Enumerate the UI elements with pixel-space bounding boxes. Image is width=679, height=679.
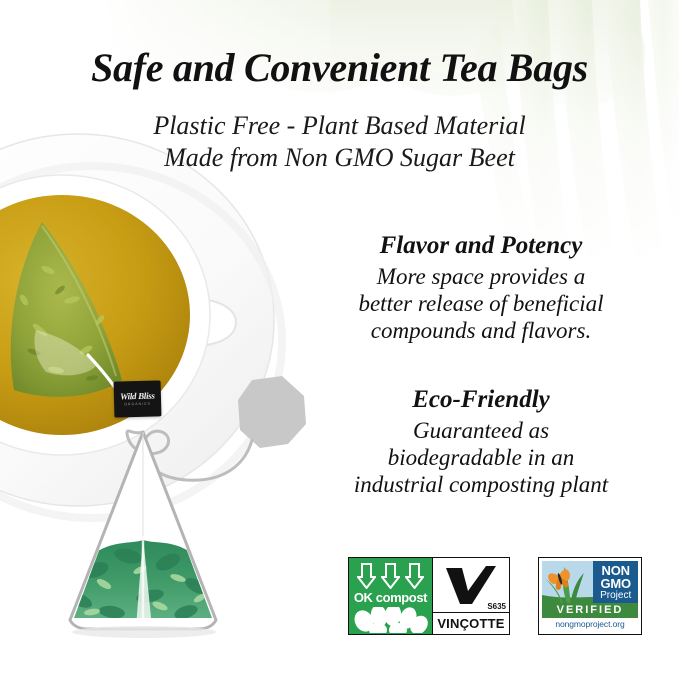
vincotte-check-area: S635 — [432, 558, 509, 612]
feature-flavor-title: Flavor and Potency — [286, 232, 676, 260]
non-gmo-sky-scene — [542, 561, 593, 603]
ok-compost-panel: OK compost — [349, 558, 432, 634]
feature-flavor-line-2: better release of beneficial — [286, 290, 676, 317]
non-gmo-url: nongmoproject.org — [542, 618, 638, 631]
feature-eco-line-3: industrial composting plant — [286, 471, 676, 498]
ok-compost-label: OK compost — [354, 590, 427, 605]
teabag-string — [127, 431, 252, 480]
feature-flavor-line-3: compounds and flavors. — [286, 317, 676, 344]
compost-flower-icon — [352, 607, 428, 633]
feature-flavor-and-potency: Flavor and Potency More space provides a… — [286, 232, 676, 344]
teabag-in-cup — [11, 222, 122, 397]
feature-eco-line-2: biodegradable in an — [286, 444, 676, 471]
brand-tag-subtitle: ORGANICS — [124, 402, 151, 406]
vincotte-name: VINÇOTTE — [432, 612, 509, 634]
checkmark-icon — [444, 565, 498, 605]
non-gmo-wordmark: NON GMO Project — [593, 561, 638, 603]
pyramid-outline — [70, 432, 216, 629]
tagline-line-2: Made from Non GMO Sugar Beet — [0, 142, 679, 174]
non-gmo-line-1: NON — [602, 564, 630, 577]
down-arrow-icon — [405, 563, 424, 589]
feature-eco-body: Guaranteed as biodegradable in an indust… — [286, 417, 676, 498]
down-arrows-group — [357, 563, 424, 589]
non-gmo-top: NON GMO Project — [542, 561, 638, 603]
feature-flavor-body: More space provides a better release of … — [286, 263, 676, 344]
feature-eco-friendly: Eco-Friendly Guaranteed as biodegradable… — [286, 386, 676, 498]
tea-liquid — [0, 195, 190, 435]
non-gmo-project-verified-badge: NON GMO Project VERIFIED nongmoproject.o… — [538, 557, 642, 635]
feature-eco-line-1: Guaranteed as — [286, 417, 676, 444]
brand-tag-name: Wild Bliss — [120, 391, 155, 401]
tagline-line-1: Plastic Free - Plant Based Material — [0, 110, 679, 142]
saucer — [0, 134, 274, 506]
vincotte-panel: S635 VINÇOTTE — [432, 558, 509, 634]
cup-body — [0, 175, 210, 455]
feature-eco-title: Eco-Friendly — [286, 386, 676, 414]
ok-compost-vincotte-badge: OK compost S635 VINÇ — [348, 557, 510, 635]
cup-handle — [150, 297, 236, 346]
vincotte-code: S635 — [487, 602, 506, 611]
promo-graphic: Wild Bliss ORGANICS — [0, 0, 679, 679]
non-gmo-line-2: GMO — [600, 577, 630, 590]
butterfly-grass-icon — [542, 561, 593, 603]
down-arrow-icon — [381, 563, 400, 589]
brand-tag: Wild Bliss ORGANICS — [114, 380, 162, 417]
tagline: Plastic Free - Plant Based Material Made… — [0, 110, 679, 173]
certification-badges: OK compost S635 VINÇ — [348, 557, 642, 635]
feature-flavor-line-1: More space provides a — [286, 263, 676, 290]
non-gmo-line-3: Project — [600, 591, 631, 601]
non-gmo-verified-bar: VERIFIED — [542, 603, 638, 618]
down-arrow-icon — [357, 563, 376, 589]
page-title: Safe and Convenient Tea Bags — [0, 44, 679, 91]
pyramid-leaves — [62, 536, 222, 628]
